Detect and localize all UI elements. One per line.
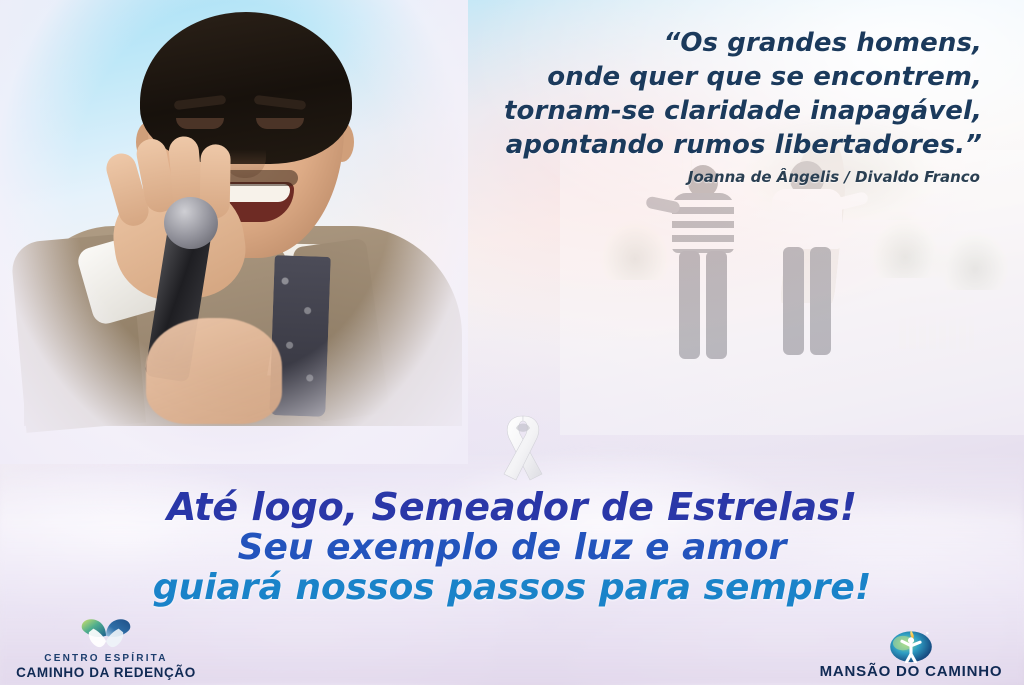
portrait-eye-left <box>176 118 224 129</box>
hands-heart-logo-icon <box>8 616 204 652</box>
quote-attribution: Joanna de Ângelis / Divaldo Franco <box>420 168 980 186</box>
logo-centro-espirita[interactable]: CENTRO ESPÍRITA CAMINHO DA REDENÇÃO <box>8 616 204 681</box>
background-palm-3 <box>590 210 680 280</box>
headline-text: Até logo, Semeador de Estrelas! Seu exem… <box>0 486 1024 608</box>
quote-line-2: onde quer que se encontrem, <box>422 60 982 94</box>
portrait-hand-mic <box>146 318 282 424</box>
portrait-photo <box>28 0 458 424</box>
mourning-ribbon-icon <box>486 408 560 486</box>
logo-left-line-2: CAMINHO DA REDENÇÃO <box>8 665 204 681</box>
background-person-2 <box>772 161 842 365</box>
globe-figure-logo-icon <box>804 627 1018 663</box>
logo-mansao-do-caminho[interactable]: MANSÃO DO CAMINHO <box>804 627 1018 681</box>
quote-line-4: apontando rumos libertadores.” <box>422 128 982 162</box>
headline-line-3: guiará nossos passos para sempre! <box>0 568 1024 608</box>
quote-line-3: tornam-se claridade inapagável, <box>422 94 982 128</box>
quote-line-1: “Os grandes homens, <box>422 26 982 60</box>
background-photo <box>560 150 1024 435</box>
logo-left-line-1: CENTRO ESPÍRITA <box>8 652 204 665</box>
background-gate <box>896 297 974 349</box>
quote-text: “Os grandes homens, onde quer que se enc… <box>422 26 982 162</box>
logo-right-line-1: MANSÃO DO CAMINHO <box>804 663 1018 681</box>
headline-line-1: Até logo, Semeador de Estrelas! <box>0 486 1024 528</box>
memorial-poster: “Os grandes homens, onde quer que se enc… <box>0 0 1024 685</box>
background-palm-2 <box>930 220 1020 290</box>
headline-line-2: Seu exemplo de luz e amor <box>0 528 1024 568</box>
background-person-1 <box>672 165 734 365</box>
portrait-eye-right <box>256 118 304 129</box>
